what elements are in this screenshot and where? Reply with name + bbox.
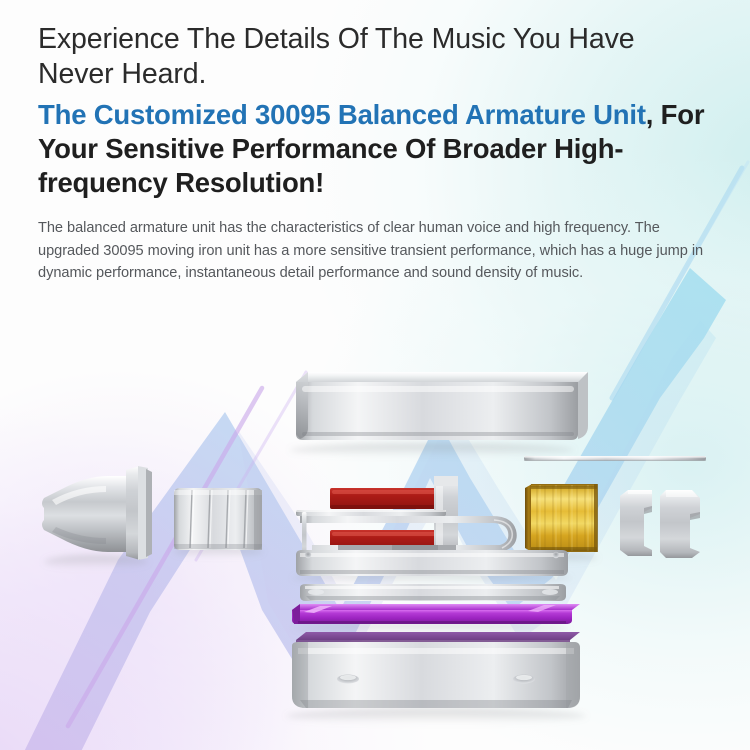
part-left-pole-piece <box>620 490 652 556</box>
part-upper-magnet-bar <box>330 488 438 509</box>
product-banner: Experience The Details Of The Music You … <box>0 0 750 750</box>
headline-secondary: The Customized 30095 Balanced Armature U… <box>38 98 710 200</box>
part-drive-rod <box>524 456 706 461</box>
text-block: Experience The Details Of The Music You … <box>38 22 710 285</box>
part-ribbed-spacer-sleeve <box>173 488 263 558</box>
headline-primary: Experience The Details Of The Music You … <box>38 22 710 92</box>
body-copy: The balanced armature unit has the chara… <box>38 217 704 285</box>
exploded-view-illustration <box>0 340 750 740</box>
part-sound-nozzle <box>42 466 152 569</box>
part-bottom-housing-shell <box>286 632 586 724</box>
part-middle-shim-plate <box>300 584 566 601</box>
headline-accent-text: The Customized 30095 Balanced Armature U… <box>38 99 646 130</box>
part-base-frame-plate <box>292 545 572 584</box>
part-purple-diaphragm-membrane <box>292 604 580 633</box>
part-right-pole-piece <box>660 490 700 558</box>
part-top-housing-cover <box>290 372 588 457</box>
